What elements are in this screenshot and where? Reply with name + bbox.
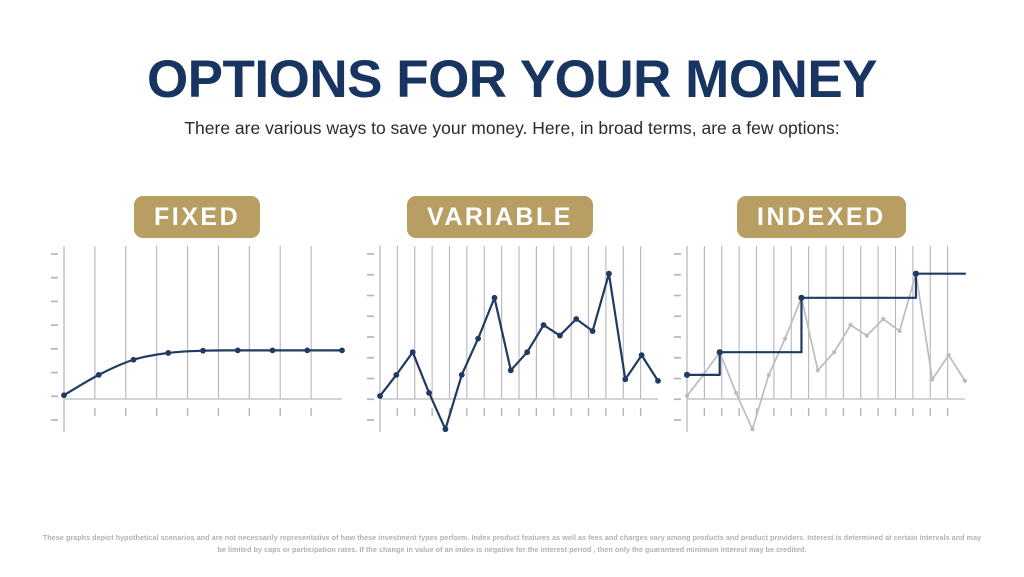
chart-svg-indexed [665,242,971,436]
data-point [393,372,399,378]
data-point [798,295,804,301]
data-point [930,377,934,381]
data-point [590,328,596,334]
data-point [913,271,919,277]
data-point [339,347,345,353]
data-point [606,271,612,277]
data-point [524,349,530,355]
x-ticks-fixed [95,408,311,416]
y-ticks-variable [367,254,374,420]
data-point [475,336,481,342]
charts-row: FIXED VARIABLE INDEXED [0,196,1024,436]
data-point [816,368,820,372]
data-point [717,349,723,355]
chart-block-fixed: FIXED [42,196,348,436]
y-ticks-fixed [51,254,58,420]
data-point [897,329,901,333]
x-ticks-variable [397,408,640,416]
data-point [200,348,206,354]
chart-canvas-fixed [42,242,348,436]
data-point [734,391,738,395]
chart-badge-fixed: FIXED [134,196,260,238]
chart-canvas-variable [358,242,664,436]
data-point [655,378,661,384]
data-point [508,367,514,373]
slide-canvas: OPTIONS FOR YOUR MONEY There are various… [0,0,1024,577]
gridlines-indexed [704,246,947,399]
y-ticks-indexed [674,254,681,420]
data-point [963,379,967,383]
data-point [459,372,465,378]
data-point [541,322,547,328]
data-point [750,427,754,431]
data-point [639,352,645,358]
data-point [492,295,498,301]
data-point [443,426,449,432]
chart-svg-variable [358,242,664,436]
chart-badge-indexed: INDEXED [737,196,906,238]
data-point [832,350,836,354]
data-point [426,390,432,396]
chart-svg-fixed [42,242,348,436]
data-point [684,372,690,378]
data-point [304,347,310,353]
data-point [622,376,628,382]
data-point [96,372,102,378]
data-point [865,333,869,337]
chart-badge-variable: VARIABLE [407,196,593,238]
chart-canvas-indexed [665,242,971,436]
data-point [131,357,137,363]
data-point [881,317,885,321]
data-point [410,349,416,355]
page-subtitle: There are various ways to save your mone… [0,118,1024,139]
data-point [165,350,171,356]
chart-block-indexed: INDEXED [665,196,971,436]
data-point [685,394,689,398]
data-point [783,337,787,341]
page-title: OPTIONS FOR YOUR MONEY [0,52,1024,108]
data-point [573,316,579,322]
data-point [270,347,276,353]
data-point [61,392,67,398]
gridlines-fixed [95,246,311,399]
chart-block-variable: VARIABLE [358,196,664,436]
data-point [947,353,951,357]
data-point [557,333,563,339]
data-point [377,393,383,399]
data-point [235,347,241,353]
x-ticks-indexed [704,408,947,416]
series-line-1 [64,350,342,395]
data-point [767,373,771,377]
data-point [848,323,852,327]
footnote-disclaimer: These graphs depict hypothetical scenari… [38,532,986,556]
gridlines-variable [397,246,640,399]
